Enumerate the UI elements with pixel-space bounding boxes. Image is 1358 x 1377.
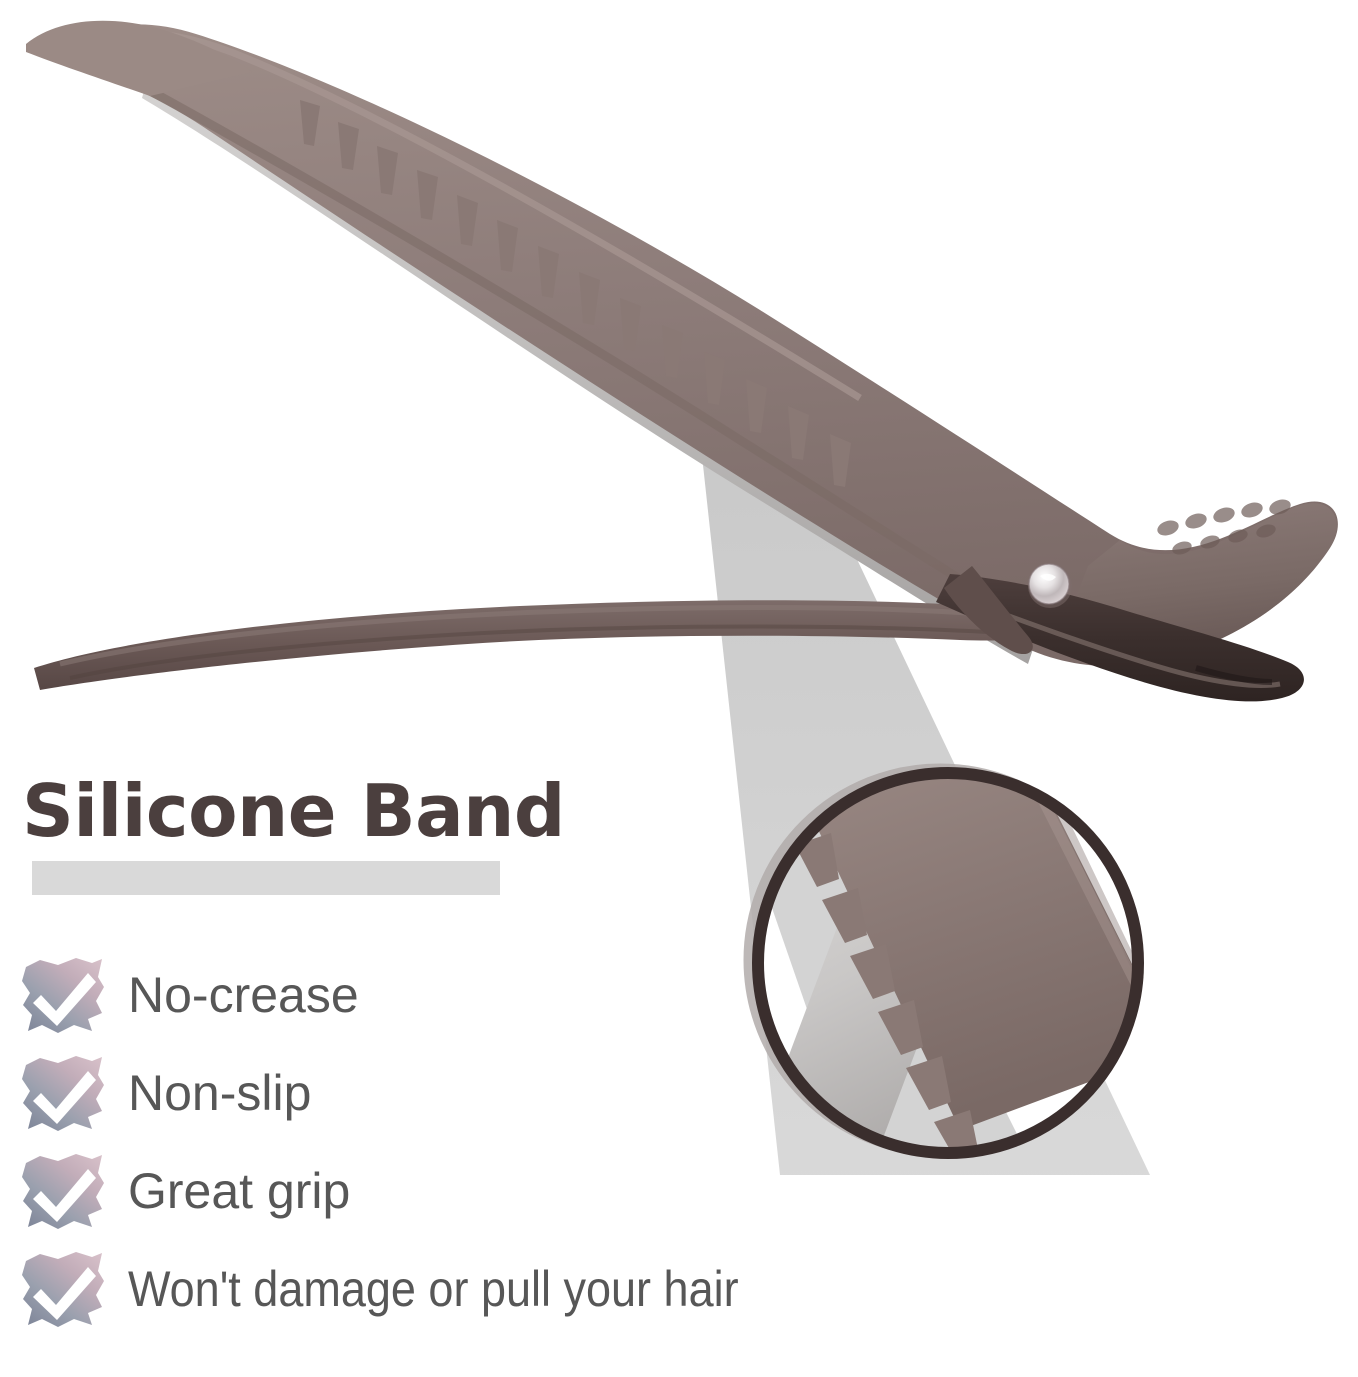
check-brush-icon: [18, 1051, 110, 1135]
paddle-tip: [1056, 497, 1337, 665]
lower-jaw-band: [34, 600, 1067, 690]
product-infographic: Silicone Band No: [0, 0, 1358, 1377]
feature-item-non-slip: Non-slip: [18, 1048, 978, 1138]
dark-clamp-jaw: [936, 574, 1304, 701]
feature-item-no-crease: No-crease: [18, 950, 978, 1040]
check-brush-icon: [18, 1149, 110, 1233]
headline-highlight-bar: [32, 861, 500, 895]
feature-label: Won't damage or pull your hair: [128, 1264, 739, 1314]
hinge-post: [944, 566, 1033, 654]
feature-label: Great grip: [128, 1166, 350, 1216]
silicone-teeth: [300, 100, 851, 487]
feature-item-wont-damage: Won't damage or pull your hair: [18, 1244, 978, 1334]
feature-item-great-grip: Great grip: [18, 1146, 978, 1236]
feature-label: No-crease: [128, 970, 359, 1020]
headline-block: Silicone Band: [22, 775, 642, 900]
upper-arm: [26, 21, 1338, 667]
check-brush-icon: [18, 953, 110, 1037]
check-brush-icon: [18, 1247, 110, 1331]
rivet: [1028, 564, 1072, 608]
silicone-band-strip: [142, 62, 1040, 664]
feature-label: Non-slip: [128, 1068, 311, 1118]
feature-list: No-crease Non-slip: [18, 950, 978, 1342]
page-title: Silicone Band: [22, 775, 565, 847]
